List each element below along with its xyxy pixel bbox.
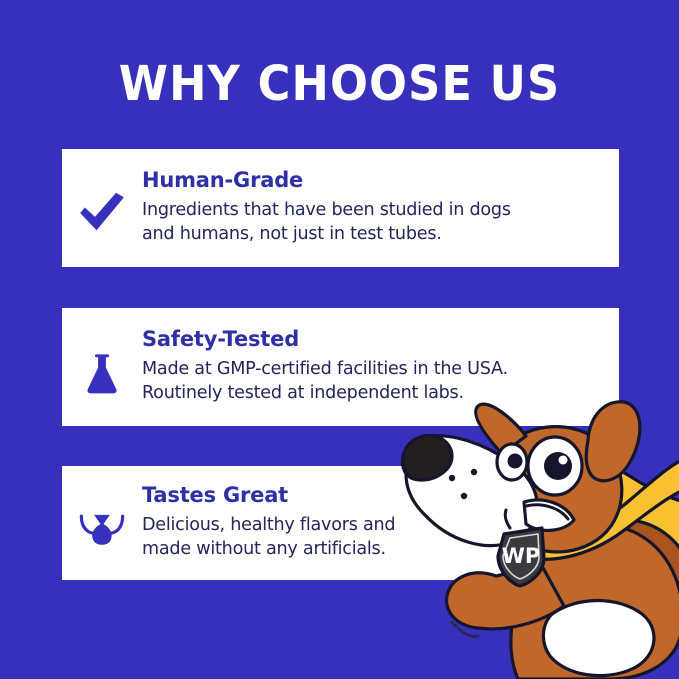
page-title: WHY CHOOSE US [24, 60, 655, 108]
feature-heading: Tastes Great [142, 484, 605, 507]
flask-icon [62, 308, 142, 426]
feature-text: Made at GMP-certified facilities in the … [142, 358, 605, 405]
why-choose-us-poster: WHY CHOOSE US Human-Grade Ingredients th… [0, 0, 679, 679]
feature-card-body: Safety-Tested Made at GMP-certified faci… [142, 328, 619, 405]
feature-card-tastes-great: Tastes Great Delicious, healthy flavors … [62, 466, 619, 580]
feature-card-body: Tastes Great Delicious, healthy flavors … [142, 484, 619, 561]
tongue-icon [62, 466, 142, 580]
feature-heading: Safety-Tested [142, 328, 605, 351]
feature-card-safety-tested: Safety-Tested Made at GMP-certified faci… [62, 308, 619, 426]
feature-card-human-grade: Human-Grade Ingredients that have been s… [62, 149, 619, 267]
feature-card-body: Human-Grade Ingredients that have been s… [142, 169, 619, 246]
feature-text: Ingredients that have been studied in do… [142, 199, 605, 246]
checkmark-icon [62, 149, 142, 267]
feature-text: Delicious, healthy flavors and made with… [142, 514, 605, 561]
feature-heading: Human-Grade [142, 169, 605, 192]
